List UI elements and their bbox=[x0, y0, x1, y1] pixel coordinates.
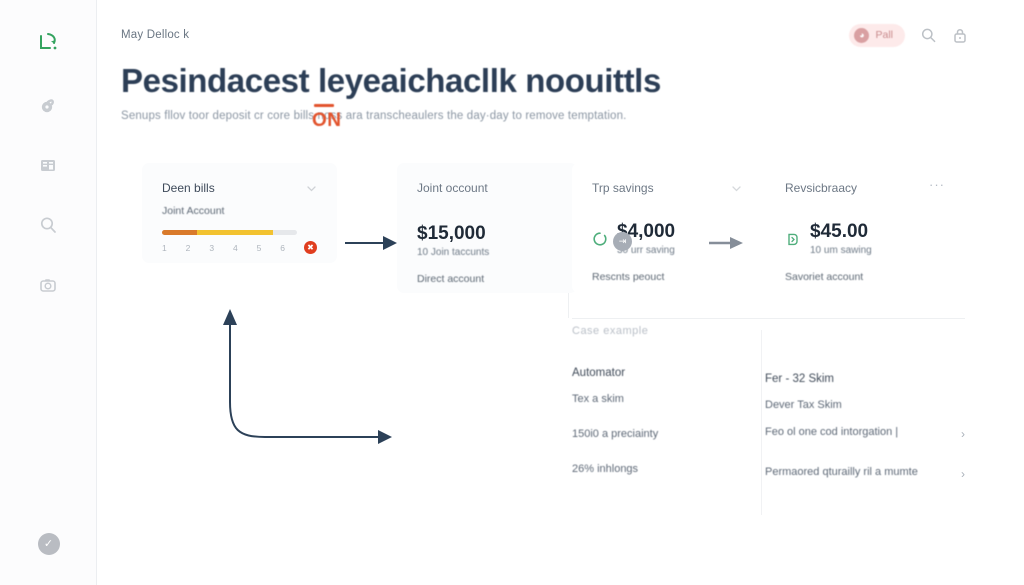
breadcrumb[interactable]: May Delloc k bbox=[121, 29, 189, 41]
panel-kicker: Case example bbox=[572, 325, 752, 337]
sidebar-footer: ✓ bbox=[0, 533, 97, 555]
sidebar-item-capture[interactable] bbox=[31, 270, 65, 304]
amount-sub-label: 10 um sawing bbox=[810, 245, 872, 256]
chevron-right-icon: › bbox=[961, 465, 965, 481]
camera-icon bbox=[37, 274, 59, 301]
green-shield-icon bbox=[785, 231, 801, 247]
search-icon[interactable] bbox=[919, 26, 937, 44]
sidebar-item-search[interactable] bbox=[31, 210, 65, 244]
panel-line: 26% inhlongs bbox=[572, 463, 752, 475]
folder-icon bbox=[37, 154, 59, 181]
progress-segment-yellow bbox=[197, 230, 273, 235]
list-item-label: Feo ol one cod intorgation | bbox=[765, 425, 898, 441]
status-badge-label: Pall bbox=[875, 29, 893, 41]
list-item[interactable]: Feo ol one cod intorgation | › bbox=[765, 425, 965, 441]
card-footer-label: Direct account bbox=[417, 273, 557, 285]
card-header: Joint occount bbox=[417, 181, 557, 195]
progress-segment-orange bbox=[162, 230, 197, 235]
app-window: ✓ May Delloc k ◕ Pall bbox=[0, 0, 1024, 585]
tick-label: 3 bbox=[209, 243, 214, 253]
gauge-dial-icon bbox=[37, 94, 59, 121]
check-icon: ✓ bbox=[44, 539, 53, 550]
sidebar-nav bbox=[31, 90, 65, 304]
card-header: Revsicbraacy ··· bbox=[785, 181, 945, 195]
more-options-icon[interactable]: ··· bbox=[929, 181, 945, 189]
card-title: Deen bills bbox=[162, 181, 215, 195]
status-badge[interactable]: ◕ Pall bbox=[849, 24, 905, 47]
card-joint-account[interactable]: Joint occount $15,000 10 Join taccunts D… bbox=[397, 163, 577, 293]
tick-label: 1 bbox=[162, 243, 167, 253]
list-item-label: Permaored qturailly ril a mumte bbox=[765, 465, 918, 481]
close-icon[interactable]: ✖ bbox=[304, 241, 317, 254]
progress-ticks: 1 2 3 4 5 6 ✖ bbox=[162, 241, 317, 254]
tick-label: 2 bbox=[186, 243, 191, 253]
amount-row: $45.00 10 um sawing bbox=[785, 221, 945, 256]
panel-case-example: Case example Automator Tex a skim 150i0 … bbox=[572, 325, 752, 475]
chevron-down-icon[interactable] bbox=[306, 181, 317, 192]
main-content: May Delloc k ◕ Pall bbox=[97, 0, 1024, 585]
card-header: Deen bills bbox=[162, 181, 317, 195]
amount-value: $15,000 bbox=[417, 223, 557, 245]
amount-sub-label: 10 Join taccunts bbox=[417, 247, 557, 258]
card-title: Trp savings bbox=[592, 181, 654, 195]
panel-line: Dever Tax Skim bbox=[765, 399, 965, 411]
divider-vertical-right bbox=[761, 330, 762, 515]
sidebar-item-dashboard[interactable] bbox=[31, 90, 65, 124]
topbar: May Delloc k ◕ Pall bbox=[97, 0, 1024, 70]
leaf-arrow-logo-icon[interactable] bbox=[31, 26, 65, 60]
card-row: Deen bills Joint Account 1 2 3 4 5 6 bbox=[97, 163, 1024, 298]
card-footer-label: Rescnts peouct bbox=[592, 271, 742, 283]
panel-line: 150i0 a preciainty bbox=[572, 428, 752, 440]
card-trip-savings[interactable]: Trp savings $4,000 30 urr saving bbox=[572, 163, 762, 293]
tick-label: 5 bbox=[257, 243, 262, 253]
topbar-actions: ◕ Pall bbox=[849, 24, 969, 47]
panel-title: Automator bbox=[572, 367, 752, 379]
sidebar-item-accounts[interactable] bbox=[31, 150, 65, 184]
card-deen-bills[interactable]: Deen bills Joint Account 1 2 3 4 5 6 bbox=[142, 163, 337, 263]
search-icon bbox=[37, 214, 59, 241]
sidebar: ✓ bbox=[0, 0, 97, 585]
tick-label: 4 bbox=[233, 243, 238, 253]
lock-icon[interactable] bbox=[951, 26, 969, 44]
chevron-right-icon: › bbox=[961, 425, 965, 441]
badge-dot-icon: ◕ bbox=[854, 28, 869, 43]
tick-label: 6 bbox=[280, 243, 285, 253]
card-header: Trp savings bbox=[592, 181, 742, 195]
advance-step-button[interactable]: ⇥ bbox=[613, 232, 632, 251]
arrow-elbow-loop bbox=[223, 309, 392, 444]
amount-block: $15,000 10 Join taccunts bbox=[417, 223, 557, 258]
green-ring-icon bbox=[592, 231, 608, 247]
page-subtitle: Senups fllov toor deposit cr core bills … bbox=[121, 110, 981, 122]
card-title: Revsicbraacy bbox=[785, 181, 857, 195]
card-sub-label: Joint Account bbox=[162, 205, 317, 217]
card-footer-label: Savoriet account bbox=[785, 271, 945, 283]
card-title: Joint occount bbox=[417, 181, 488, 195]
panel-fer-32-skim: Fer - 32 Skim Dever Tax Skim Feo ol one … bbox=[765, 325, 965, 481]
panel-title: Fer - 32 Skim bbox=[765, 373, 965, 385]
avatar[interactable]: ✓ bbox=[38, 533, 60, 555]
chevron-down-icon[interactable] bbox=[731, 181, 742, 192]
page-title: Pesindacest leyeaichacllk noouittls bbox=[121, 62, 981, 100]
list-item[interactable]: Permaored qturailly ril a mumte › bbox=[765, 465, 965, 481]
on-toggle-badge[interactable]: ON bbox=[312, 110, 342, 132]
hero: Pesindacest leyeaichacllk noouittls Senu… bbox=[121, 62, 981, 122]
progress-bar[interactable] bbox=[162, 230, 297, 235]
card-revsicbraacy[interactable]: Revsicbraacy ··· $45.00 10 um sawing bbox=[765, 163, 965, 293]
panel-line: Tex a skim bbox=[572, 393, 752, 405]
divider-horizontal bbox=[572, 318, 965, 319]
amount-value: $45.00 bbox=[810, 221, 868, 242]
